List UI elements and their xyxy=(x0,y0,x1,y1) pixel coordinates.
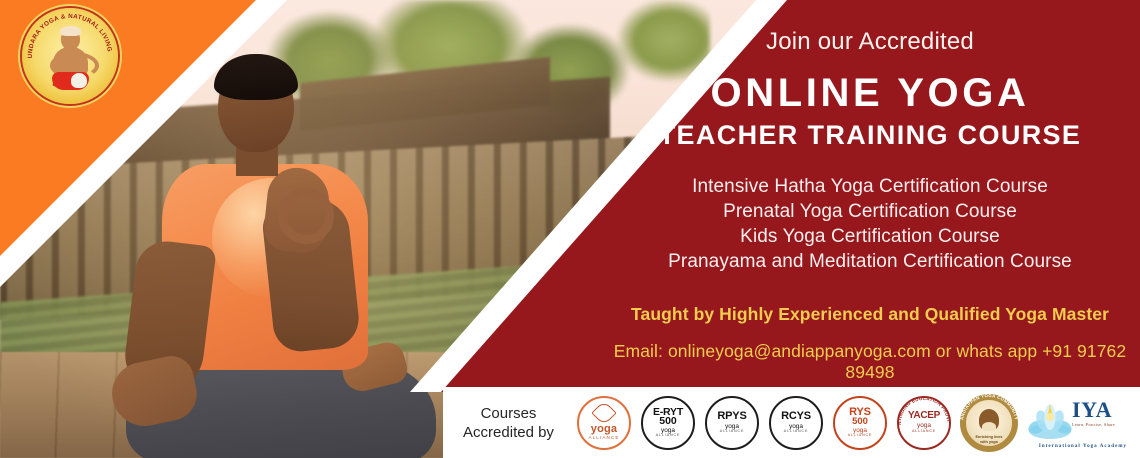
accreditation-badge-list: yoga ALLIANCE E-RYT 500 yoga ALLIANCE RP… xyxy=(574,392,1140,454)
badge-international-yoga-academy-icon: IYA Learn, Practise, Share International… xyxy=(1024,393,1140,453)
lotus-icon xyxy=(1028,401,1072,441)
badge-micro-text: ALLIANCE xyxy=(781,430,811,434)
promo-copy: Join our Accredited ONLINE YOGA TEACHER … xyxy=(600,0,1140,392)
badge-sub-text: 500 xyxy=(653,416,683,427)
course-list-item: Kids Yoga Certification Course xyxy=(600,224,1140,249)
badge-micro-text: ALLIANCE xyxy=(653,434,683,438)
course-list: Intensive Hatha Yoga Certification Cours… xyxy=(600,174,1140,274)
tagline-text: Taught by Highly Experienced and Qualifi… xyxy=(600,304,1140,325)
badge-sub-text: 500 xyxy=(848,417,873,427)
trust-logo-guru-figure xyxy=(48,28,92,90)
badge-content: RYS 500 yoga ALLIANCE xyxy=(848,407,873,438)
badge-main-text: RCYS xyxy=(781,411,811,422)
course-list-item: Prenatal Yoga Certification Course xyxy=(600,199,1140,224)
headline-secondary: TEACHER TRAINING COURSE xyxy=(600,120,1140,151)
badge-tagline-line2: with yoga xyxy=(958,440,1020,445)
eyebrow-text: Join our Accredited xyxy=(600,28,1140,56)
iya-main-text: IYA xyxy=(1072,399,1140,421)
badge-e-ryt-500-icon: E-RYT 500 yoga ALLIANCE xyxy=(638,393,698,453)
accreditation-footer: Courses Accredited by yoga ALLIANCE E-RY… xyxy=(443,387,1140,458)
trust-logo-red-cloth xyxy=(52,72,89,90)
trust-logo: ASANA ANDIAPPAN SUNDARA YOGA & NATURAL L… xyxy=(22,8,118,104)
course-list-item: Pranayama and Meditation Certification C… xyxy=(600,249,1140,274)
yoga-alliance-knot-icon xyxy=(591,400,616,425)
chin-mudra-icon xyxy=(278,188,334,244)
badge-content: E-RYT 500 yoga ALLIANCE xyxy=(653,407,683,438)
badge-main-text: RPYS xyxy=(717,411,746,422)
badge-rcys-icon: RCYS yoga ALLIANCE xyxy=(766,393,826,453)
iya-sub-text: Learn, Practise, Share xyxy=(1072,422,1140,427)
badge-content: RPYS yoga ALLIANCE xyxy=(717,411,746,434)
badge-main-text: YACEP xyxy=(908,411,940,421)
badge-main-text: yoga xyxy=(588,424,619,435)
badge-yacep-icon: CONTINUING EDUCATION PROVIDER YACEP yoga… xyxy=(894,393,954,453)
accredited-by-line1: Courses xyxy=(443,404,574,423)
badge-micro-text: ALLIANCE xyxy=(908,430,940,434)
badge-content: yoga ALLIANCE xyxy=(588,404,619,441)
badge-yoga-alliance-icon: yoga ALLIANCE xyxy=(574,393,634,453)
badge-tagline: Enriching lives with yoga xyxy=(958,435,1020,444)
figure-hair xyxy=(214,54,298,100)
svg-text:ANDIAPPAN YOGA COMMUNITY: ANDIAPPAN YOGA COMMUNITY xyxy=(959,392,1019,419)
badge-micro-text: ALLIANCE xyxy=(717,430,746,434)
badge-rys-500-icon: RYS 500 yoga ALLIANCE xyxy=(830,393,890,453)
trust-logo-hair xyxy=(60,26,81,36)
badge-rpys-icon: RPYS yoga ALLIANCE xyxy=(702,393,762,453)
badge-tiny-text: ALLIANCE xyxy=(588,436,619,441)
badge-content: YACEP yoga ALLIANCE xyxy=(908,411,940,433)
badge-andiappan-yoga-community-icon: ANDIAPPAN YOGA COMMUNITY Enriching lives… xyxy=(958,392,1020,454)
contact-text: Email: onlineyoga@andiappanyoga.com or w… xyxy=(600,341,1140,383)
iya-foot-text: International Yoga Academy xyxy=(1026,444,1140,449)
badge-content: RCYS yoga ALLIANCE xyxy=(781,411,811,434)
course-list-item: Intensive Hatha Yoga Certification Cours… xyxy=(600,174,1140,199)
meditating-yogi-figure xyxy=(120,60,450,458)
accredited-by-label: Courses Accredited by xyxy=(443,404,574,442)
iya-wordmark: IYA Learn, Practise, Share xyxy=(1072,399,1140,427)
headline-primary: ONLINE YOGA xyxy=(600,72,1140,115)
yoga-course-banner: ASANA ANDIAPPAN SUNDARA YOGA & NATURAL L… xyxy=(0,0,1140,458)
accredited-by-line2: Accredited by xyxy=(443,423,574,442)
badge-micro-text: ALLIANCE xyxy=(848,434,873,438)
